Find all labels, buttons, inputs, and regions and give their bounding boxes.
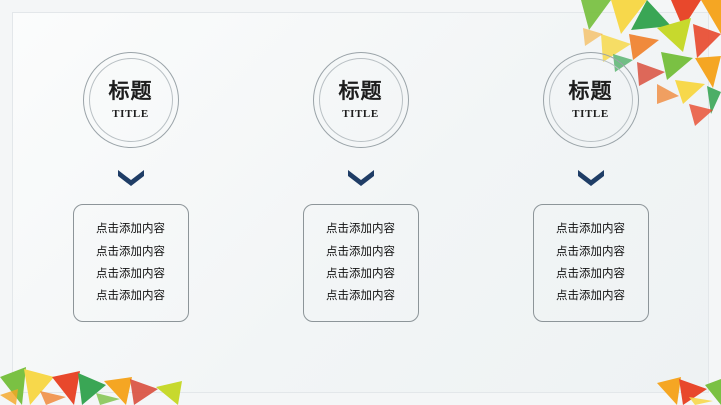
content-line: 点击添加内容 [326,263,395,285]
title-circle-inner-3: 标题 TITLE [549,58,633,142]
content-line: 点击添加内容 [326,218,395,240]
column-2: 标题 TITLE 点击添加内容 点击添加内容 点击添加内容 点击添加内容 [271,52,451,322]
column-1: 标题 TITLE 点击添加内容 点击添加内容 点击添加内容 点击添加内容 [41,52,221,322]
content-line: 点击添加内容 [96,241,165,263]
content-line: 点击添加内容 [96,263,165,285]
circle-title-3: 标题 [569,80,613,103]
title-circle-inner-1: 标题 TITLE [89,58,173,142]
chevron-down-icon [348,170,374,190]
content-line: 点击添加内容 [556,241,625,263]
content-box-3[interactable]: 点击添加内容 点击添加内容 点击添加内容 点击添加内容 [533,204,649,322]
content-box-1[interactable]: 点击添加内容 点击添加内容 点击添加内容 点击添加内容 [73,204,189,322]
content-line: 点击添加内容 [556,285,625,307]
columns-container: 标题 TITLE 点击添加内容 点击添加内容 点击添加内容 点击添加内容 标题 [0,0,721,405]
chevron-down-icon [578,170,604,190]
content-line: 点击添加内容 [96,285,165,307]
circle-title-2: 标题 [339,80,383,103]
title-circle-inner-2: 标题 TITLE [319,58,403,142]
circle-subtitle-3: TITLE [572,108,609,120]
content-line: 点击添加内容 [556,218,625,240]
title-circle-2[interactable]: 标题 TITLE [313,52,409,148]
content-line: 点击添加内容 [96,218,165,240]
title-circle-1[interactable]: 标题 TITLE [83,52,179,148]
content-line: 点击添加内容 [556,263,625,285]
content-line: 点击添加内容 [326,241,395,263]
content-line: 点击添加内容 [326,285,395,307]
slide-canvas: 标题 TITLE 点击添加内容 点击添加内容 点击添加内容 点击添加内容 标题 [0,0,721,405]
circle-subtitle-1: TITLE [112,108,149,120]
circle-subtitle-2: TITLE [342,108,379,120]
chevron-down-icon [118,170,144,190]
title-circle-3[interactable]: 标题 TITLE [543,52,639,148]
circle-title-1: 标题 [109,80,153,103]
content-box-2[interactable]: 点击添加内容 点击添加内容 点击添加内容 点击添加内容 [303,204,419,322]
column-3: 标题 TITLE 点击添加内容 点击添加内容 点击添加内容 点击添加内容 [501,52,681,322]
